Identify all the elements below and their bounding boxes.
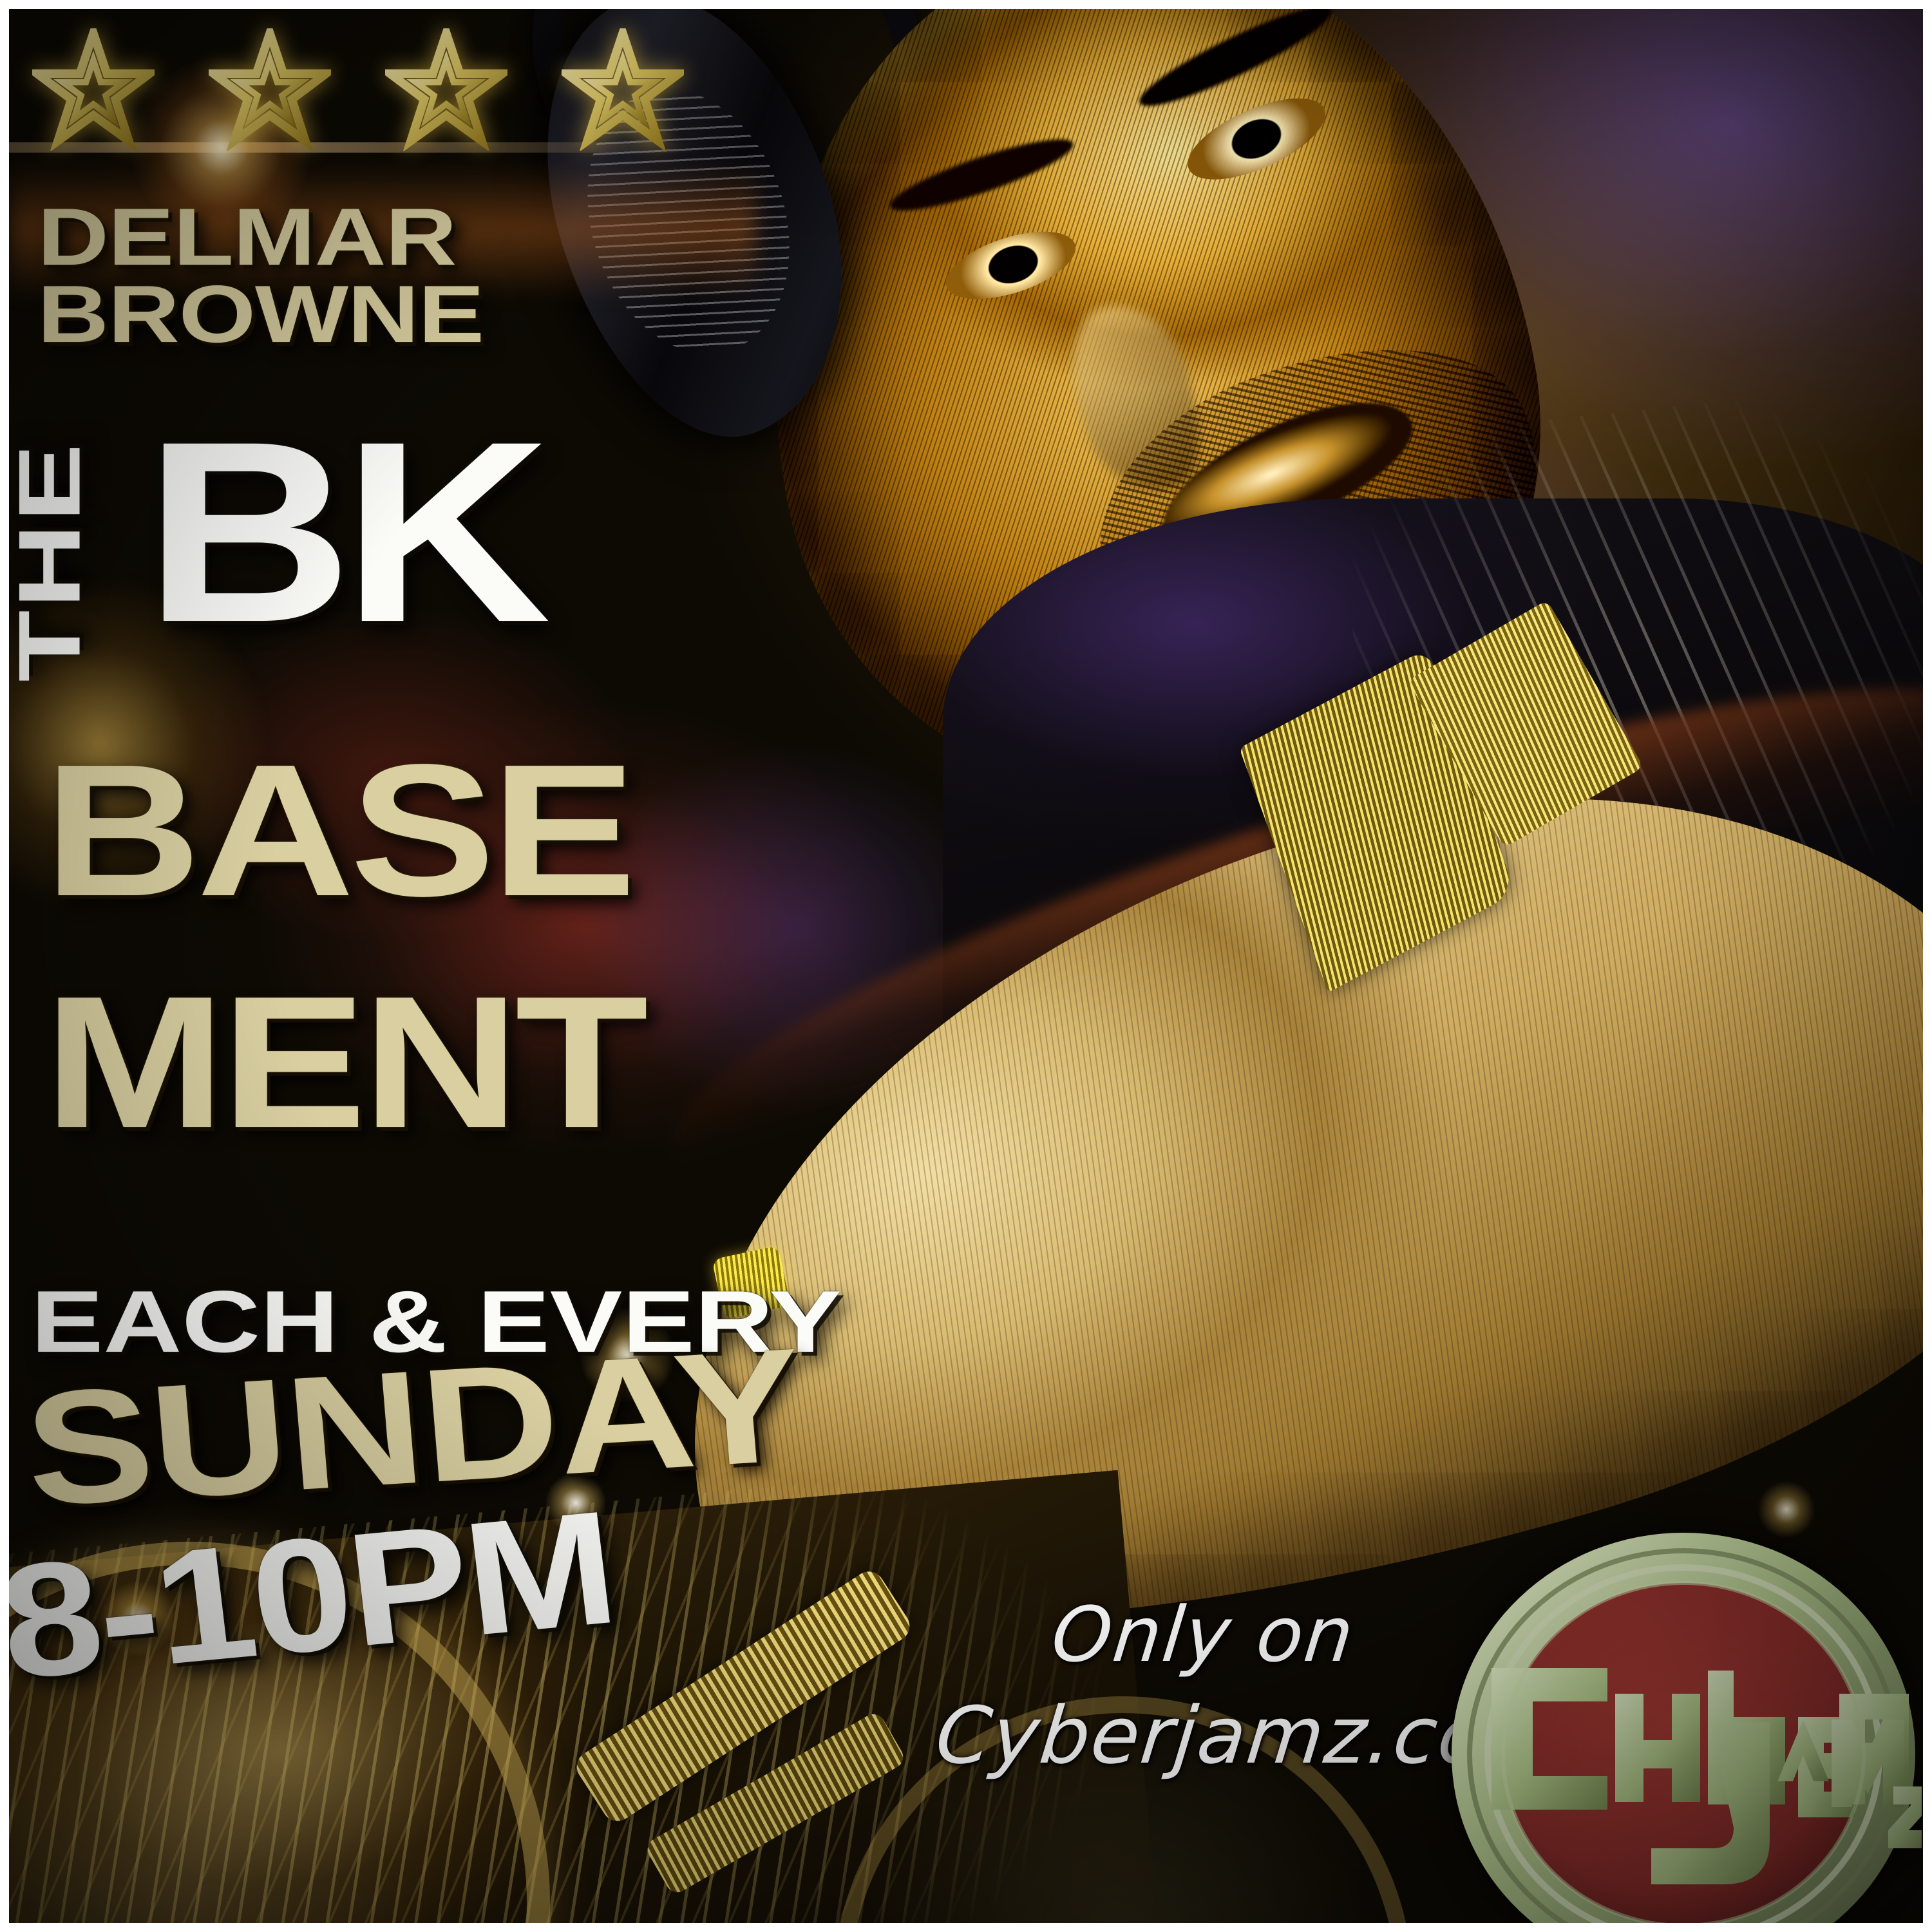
broadcast-prefix: Only on: [1048, 1590, 1359, 1679]
show-article: THE: [12, 442, 88, 682]
star-icon: [562, 28, 684, 151]
artist-last-name: BROWNE: [37, 279, 484, 349]
show-initials: BK: [144, 421, 541, 643]
schedule-day: SUNDAY: [21, 1335, 806, 1519]
poster-canvas: DELMAR BROWNE THE BK BASE MENT EACH & EV…: [0, 0, 1932, 1932]
show-name-line-2: MENT: [44, 981, 644, 1143]
schedule-time: 8-10PM: [0, 1497, 620, 1692]
star-icon: [32, 28, 155, 151]
rating-stars-row: [32, 28, 684, 151]
star-icon: [209, 28, 331, 151]
cyberjamz-logo[interactable]: [1445, 1529, 1922, 1932]
show-name-line-1: BASE: [44, 750, 632, 911]
star-icon: [385, 28, 507, 151]
artist-first-name: DELMAR: [37, 202, 456, 272]
